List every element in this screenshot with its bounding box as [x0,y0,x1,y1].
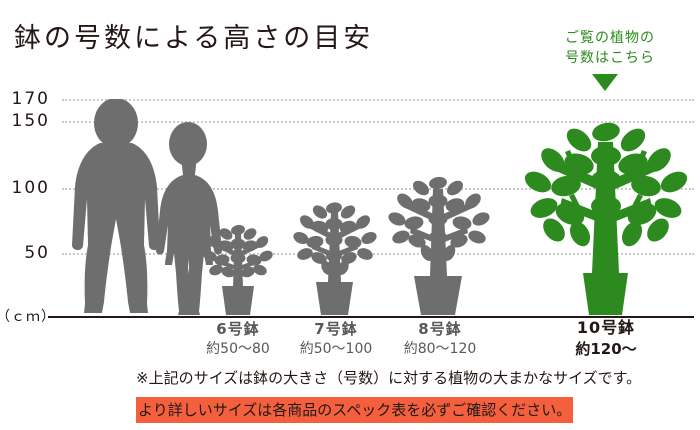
annotation-line-1: ご覧の植物の [530,28,690,48]
caption-8go: 8号鉢 約80〜120 [382,320,498,358]
tree-8go [381,163,497,316]
y-tick-170: 170 [0,89,50,109]
human-male-silhouette [70,99,162,317]
caption-10go-title: 10号鉢 [548,318,664,338]
plot-area: 170 150 100 50 （ｃｍ） [0,0,700,430]
caption-8go-range: 約80〜120 [382,341,498,359]
caption-7go-title: 7号鉢 [278,320,394,339]
caption-8go-title: 8号鉢 [382,320,498,339]
caption-10go: 10号鉢 約120〜 [548,318,664,359]
caption-10go-range: 約120〜 [548,340,664,359]
caption-6go-range: 約50〜80 [186,341,290,359]
pot-size-guide-chart: 鉢の号数による高さの目安 170 150 100 50 （ｃｍ） [0,0,700,430]
y-tick-150: 150 [0,111,50,131]
caption-7go-range: 約50〜100 [278,341,394,359]
footnote-check-spec-table: より詳しいサイズは各商品のスペック表を必ずご確認ください。 [136,397,573,423]
arrow-down-icon [592,74,618,91]
annotation-callout: ご覧の植物の 号数はこちら [530,28,690,69]
tree-6go [196,208,280,316]
y-tick-50: 50 [0,243,50,263]
caption-6go-title: 6号鉢 [186,320,290,339]
y-axis-unit-label: （ｃｍ） [0,306,50,326]
annotation-line-2: 号数はこちら [530,48,690,68]
tree-10go-highlighted [518,118,694,316]
caption-6go: 6号鉢 約50〜80 [186,320,290,358]
caption-7go: 7号鉢 約50〜100 [278,320,394,358]
footnote-size-disclaimer: ※上記のサイズは鉢の大きさ（号数）に対する植物の大まかなサイズです。 [136,367,641,388]
tree-7go [287,188,383,316]
y-tick-100: 100 [0,178,50,198]
